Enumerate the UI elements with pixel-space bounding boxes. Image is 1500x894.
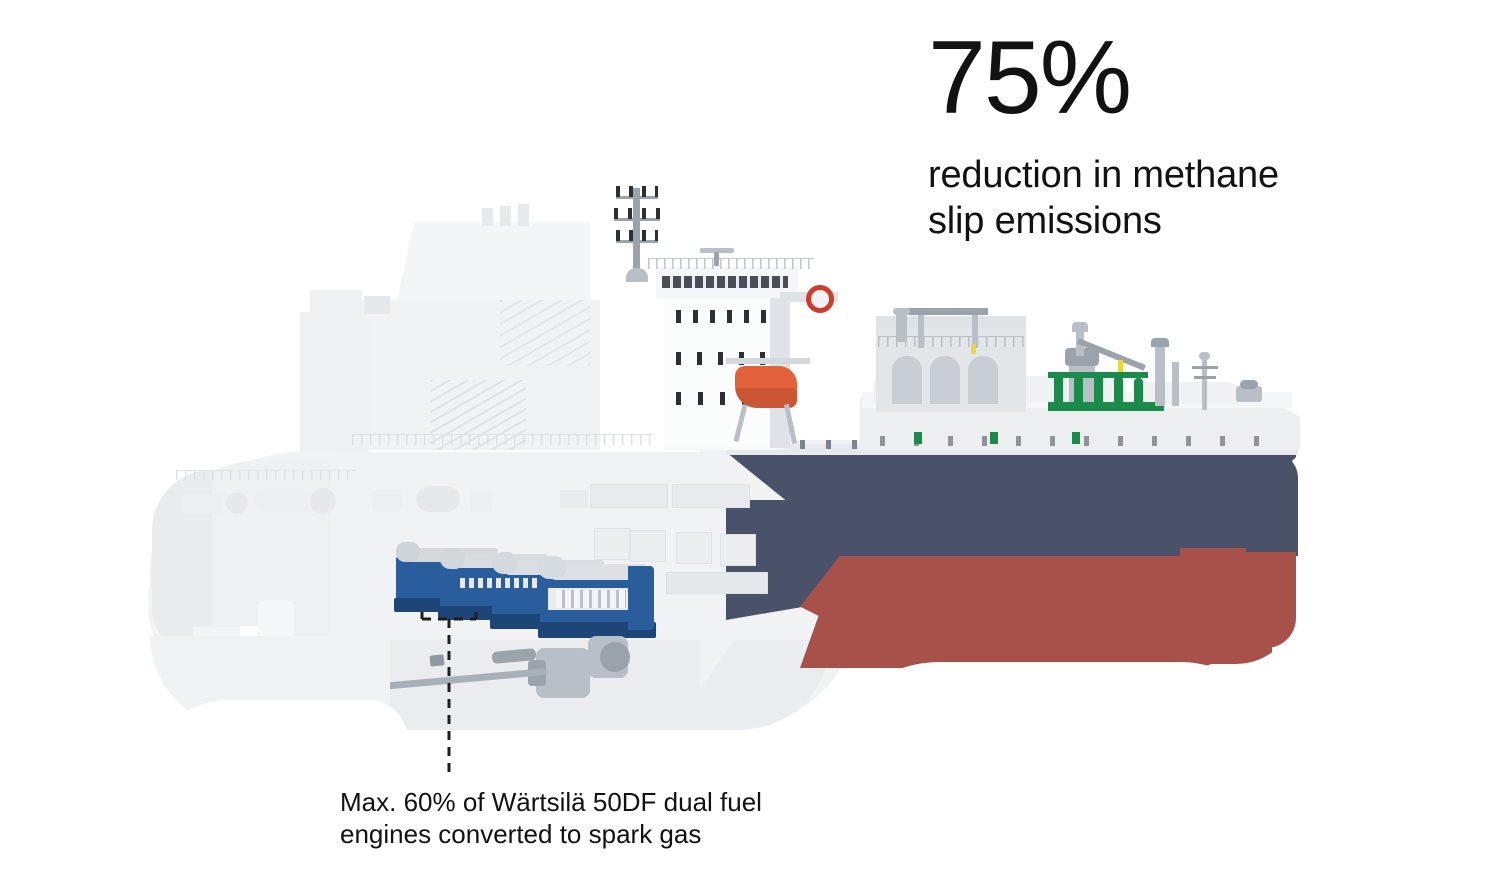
engine-cylinder-heads-detail-2 xyxy=(460,578,538,588)
cargo-manifold-riser-4 xyxy=(1114,376,1123,408)
forecastle-winch-drum xyxy=(1240,380,1258,389)
aft-winch-drum-2 xyxy=(310,488,336,514)
callout-caption-line-2: engines converted to spark gas xyxy=(340,818,940,850)
radar-mast-antennas-low xyxy=(616,230,658,241)
engine-room-panel-bank-2 xyxy=(672,484,750,508)
vent-mast-cap xyxy=(1151,338,1169,347)
cargo-manifold-riser-2 xyxy=(1074,376,1083,408)
manifold-crane-top xyxy=(1072,322,1088,332)
cargo-tank-dome-3 xyxy=(1134,382,1238,404)
cargo-manifold-riser-3 xyxy=(1094,374,1103,408)
cargo-tank-dome-2 xyxy=(1010,376,1120,402)
propeller-shaft-bearing xyxy=(430,654,445,666)
lifeboat-platform xyxy=(726,358,810,364)
radar-scanner-post xyxy=(714,252,719,266)
hull-bottom-mask xyxy=(820,662,1290,782)
engine-room-tank-bank-2 xyxy=(560,490,588,508)
engine-room-panel-bank-1 xyxy=(590,484,668,508)
cargo-manifold-riser-1 xyxy=(1054,374,1063,408)
forward-mast-arm-1 xyxy=(1192,366,1218,369)
accommodation-windows-tier-1 xyxy=(676,310,770,323)
main-engine-2-turbo xyxy=(492,552,518,574)
vent-mast-secondary xyxy=(1172,362,1179,406)
gearbox-coupling xyxy=(586,652,600,668)
casing-stair-2 xyxy=(500,300,590,366)
aft-winch-drum-1 xyxy=(226,492,248,514)
headline-block: 75% reduction in methane slip emissions xyxy=(928,26,1468,244)
mast-platform-dome xyxy=(626,268,648,282)
engine-casing-deckhouse xyxy=(300,312,370,452)
deck-valve-2 xyxy=(990,432,998,444)
main-engine-4-turbo xyxy=(396,542,420,562)
callout-caption: Max. 60% of Wärtsilä 50DF dual fuel engi… xyxy=(340,786,940,850)
engine-room-box-4 xyxy=(720,534,756,566)
main-engine-1-turbo xyxy=(538,556,566,579)
bow-stem-red xyxy=(1238,552,1296,648)
aft-winch-3 xyxy=(372,490,402,512)
gearbox-secondary-drum xyxy=(600,642,630,672)
cargo-manifold-crossbar xyxy=(1048,372,1148,378)
funnel-exhaust-pipe-3 xyxy=(518,204,529,226)
stern-bottom-mask xyxy=(148,700,408,780)
deck-bollard-row-aft xyxy=(800,440,878,449)
infographic-canvas: 75% reduction in methane slip emissions … xyxy=(0,0,1500,894)
engine-cylinder-heads-detail xyxy=(556,590,626,608)
funnel-exhaust-pipe-2 xyxy=(500,206,511,226)
deck-valve-3 xyxy=(1072,432,1080,444)
hull-lower-red-aft-taper xyxy=(800,560,1040,668)
aft-deck-rail xyxy=(176,470,356,480)
bridge-windows xyxy=(662,276,788,288)
forward-mast-lamp xyxy=(1199,352,1210,360)
cargo-manifold-header xyxy=(1048,402,1164,411)
stat-caption-line-2: slip emissions xyxy=(928,198,1468,244)
engine-room-box-2 xyxy=(630,530,666,562)
callout-caption-line-1: Max. 60% of Wärtsilä 50DF dual fuel xyxy=(340,786,940,818)
engine-room-box-1 xyxy=(594,528,630,560)
aft-winch-2 xyxy=(254,490,308,512)
vent-mast-column xyxy=(1155,344,1165,406)
stat-caption-line-1: reduction in methane xyxy=(928,152,1468,198)
cargo-house-rail xyxy=(878,336,1024,347)
stat-caption: reduction in methane slip emissions xyxy=(928,152,1468,244)
engine-room-box-3 xyxy=(676,532,712,564)
main-engine-1-aftend xyxy=(628,566,654,630)
bridge-wing-rail xyxy=(648,258,814,269)
bow-stem-navy xyxy=(1246,452,1298,556)
funnel-exhaust-pipe-1 xyxy=(482,208,493,226)
radar-mast-antennas-top xyxy=(616,186,658,197)
casing-rail-deck xyxy=(352,434,652,445)
aft-capstan xyxy=(470,492,492,512)
cargo-house-arch-3 xyxy=(968,356,998,404)
deck-valve-1 xyxy=(914,432,922,444)
engine-room-tank-bank xyxy=(666,572,768,594)
radar-mast-antennas-mid xyxy=(614,208,660,219)
cargo-house-vent-cap xyxy=(893,308,910,315)
cargo-house-arch-1 xyxy=(892,356,922,404)
aft-mooring-drum xyxy=(416,486,460,512)
manifold-yellow-marker xyxy=(1118,360,1123,372)
cargo-house-gantry-beam xyxy=(908,308,988,315)
main-engine-3-turbo xyxy=(440,548,465,569)
lifebuoy-icon xyxy=(806,285,834,313)
aft-winch-1 xyxy=(182,494,222,514)
cargo-house-arch-2 xyxy=(930,356,960,404)
deck-bollard-row xyxy=(880,436,1286,446)
casing-vent-box xyxy=(364,296,390,314)
yellow-marker-small xyxy=(971,344,976,354)
cargo-manifold-riser-5 xyxy=(1134,378,1143,408)
stat-number: 75% xyxy=(928,26,1468,130)
forward-mast-arm-2 xyxy=(1194,376,1216,379)
